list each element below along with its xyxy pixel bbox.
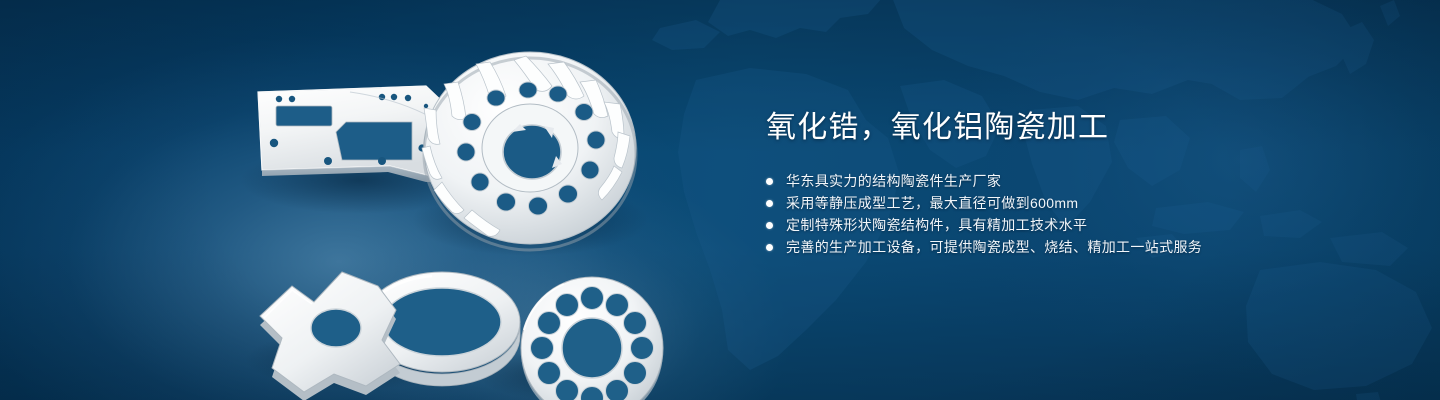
product-photo xyxy=(230,30,710,380)
banner-copy: 氧化锆，氧化铝陶瓷加工 华东具实力的结构陶瓷件生产厂家 采用等静压成型工艺，最大… xyxy=(766,108,1366,258)
feature-text: 采用等静压成型工艺，最大直径可做到600mm xyxy=(786,192,1078,214)
feature-item-4: 完善的生产加工设备，可提供陶瓷成型、烧结、精加工一站式服务 xyxy=(766,236,1366,258)
feature-item-2: 采用等静压成型工艺，最大直径可做到600mm xyxy=(766,192,1366,214)
bullet-dot-icon xyxy=(766,200,773,207)
ceramic-cross xyxy=(260,272,400,400)
feature-item-3: 定制特殊形状陶瓷结构件，具有精加工技术水平 xyxy=(766,214,1366,236)
bullet-dot-icon xyxy=(766,244,773,251)
feature-text: 华东具实力的结构陶瓷件生产厂家 xyxy=(786,170,1001,192)
bullet-dot-icon xyxy=(766,222,773,229)
feature-text: 完善的生产加工设备，可提供陶瓷成型、烧结、精加工一站式服务 xyxy=(786,236,1202,258)
banner-headline: 氧化锆，氧化铝陶瓷加工 xyxy=(766,108,1366,148)
bullet-dot-icon xyxy=(766,178,773,185)
feature-text: 定制特殊形状陶瓷结构件，具有精加工技术水平 xyxy=(786,214,1087,236)
ceramic-valve-plate xyxy=(521,277,663,400)
promo-banner: 氧化锆，氧化铝陶瓷加工 华东具实力的结构陶瓷件生产厂家 采用等静压成型工艺，最大… xyxy=(0,0,1440,400)
feature-list: 华东具实力的结构陶瓷件生产厂家 采用等静压成型工艺，最大直径可做到600mm 定… xyxy=(766,170,1366,258)
feature-item-1: 华东具实力的结构陶瓷件生产厂家 xyxy=(766,170,1366,192)
